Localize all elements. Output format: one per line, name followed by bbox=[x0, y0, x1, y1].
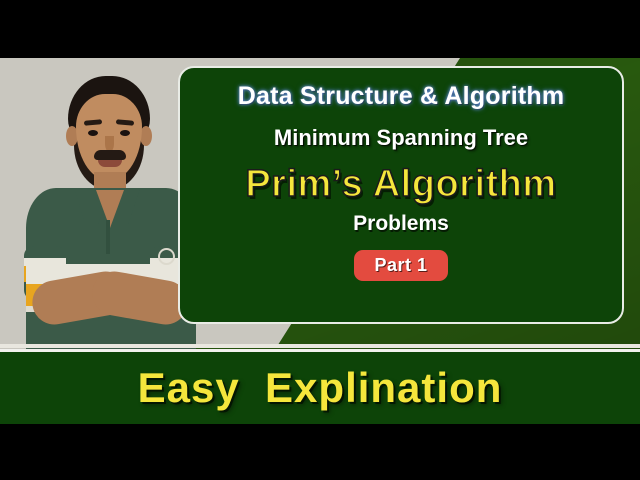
card-heading: Data Structure & Algorithm bbox=[180, 84, 622, 109]
letterbox-bottom bbox=[0, 424, 640, 480]
presenter-shirt-logo-icon bbox=[158, 248, 175, 265]
thumbnail-canvas: Data Structure & Algorithm Minimum Spann… bbox=[0, 0, 640, 480]
card-third-line: Problems bbox=[180, 213, 622, 234]
presenter-moustache bbox=[94, 150, 126, 160]
card-badge-row: Part 1 bbox=[180, 250, 622, 281]
presenter-shirt-placket bbox=[106, 220, 110, 254]
presenter-eye-left bbox=[88, 130, 98, 136]
bottom-banner: Easy Explination bbox=[0, 349, 640, 424]
letterbox-top bbox=[0, 0, 640, 58]
card-subtitle: Minimum Spanning Tree bbox=[180, 127, 622, 149]
banner-separator bbox=[0, 344, 640, 348]
presenter-eye-right bbox=[120, 130, 130, 136]
presenter-mouth bbox=[98, 160, 122, 167]
card-main-title: Prim’s Algorithm bbox=[180, 165, 622, 203]
title-card: Data Structure & Algorithm Minimum Spann… bbox=[178, 66, 624, 324]
presenter-photo bbox=[8, 68, 204, 348]
part-badge: Part 1 bbox=[354, 250, 447, 281]
banner-text: Easy Explination bbox=[138, 364, 503, 412]
